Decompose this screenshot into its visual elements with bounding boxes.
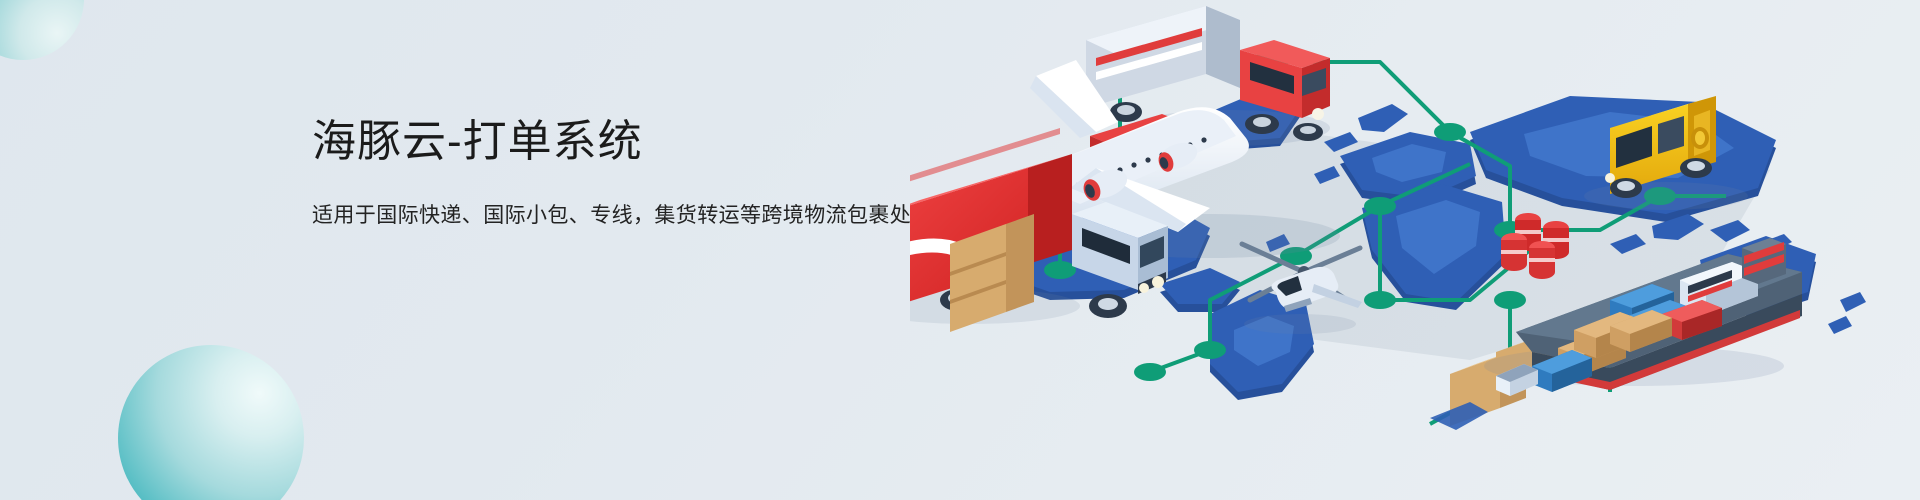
- isometric-world-logistics-map: [910, 0, 1920, 500]
- helicopter: [1242, 244, 1362, 334]
- hero-text-block: 海豚云-打单系统 适用于国际快递、国际小包、专线，集货转运等跨境物流包裹处理: [312, 110, 1132, 232]
- red-barrels: [1501, 213, 1569, 279]
- hero-banner: 海豚云-打单系统 适用于国际快递、国际小包、专线，集货转运等跨境物流包裹处理: [0, 0, 1920, 500]
- network-nodes: [1044, 53, 1676, 381]
- network-links: [1060, 62, 1726, 424]
- page-title: 海豚云-打单系统: [312, 110, 1132, 174]
- cardboard-boxes-right: [1450, 330, 1558, 426]
- container-ship: [1484, 238, 1802, 396]
- map-islets-bottom: [1430, 402, 1488, 430]
- circle-bottom-left-decoration: [118, 345, 304, 500]
- page-subtitle: 适用于国际快递、国际小包、专线，集货转运等跨境物流包裹处理: [312, 200, 1132, 232]
- circle-top-left-decoration: [0, 0, 84, 60]
- yellow-van: [1584, 96, 1748, 210]
- map-shadow: [1050, 110, 1770, 360]
